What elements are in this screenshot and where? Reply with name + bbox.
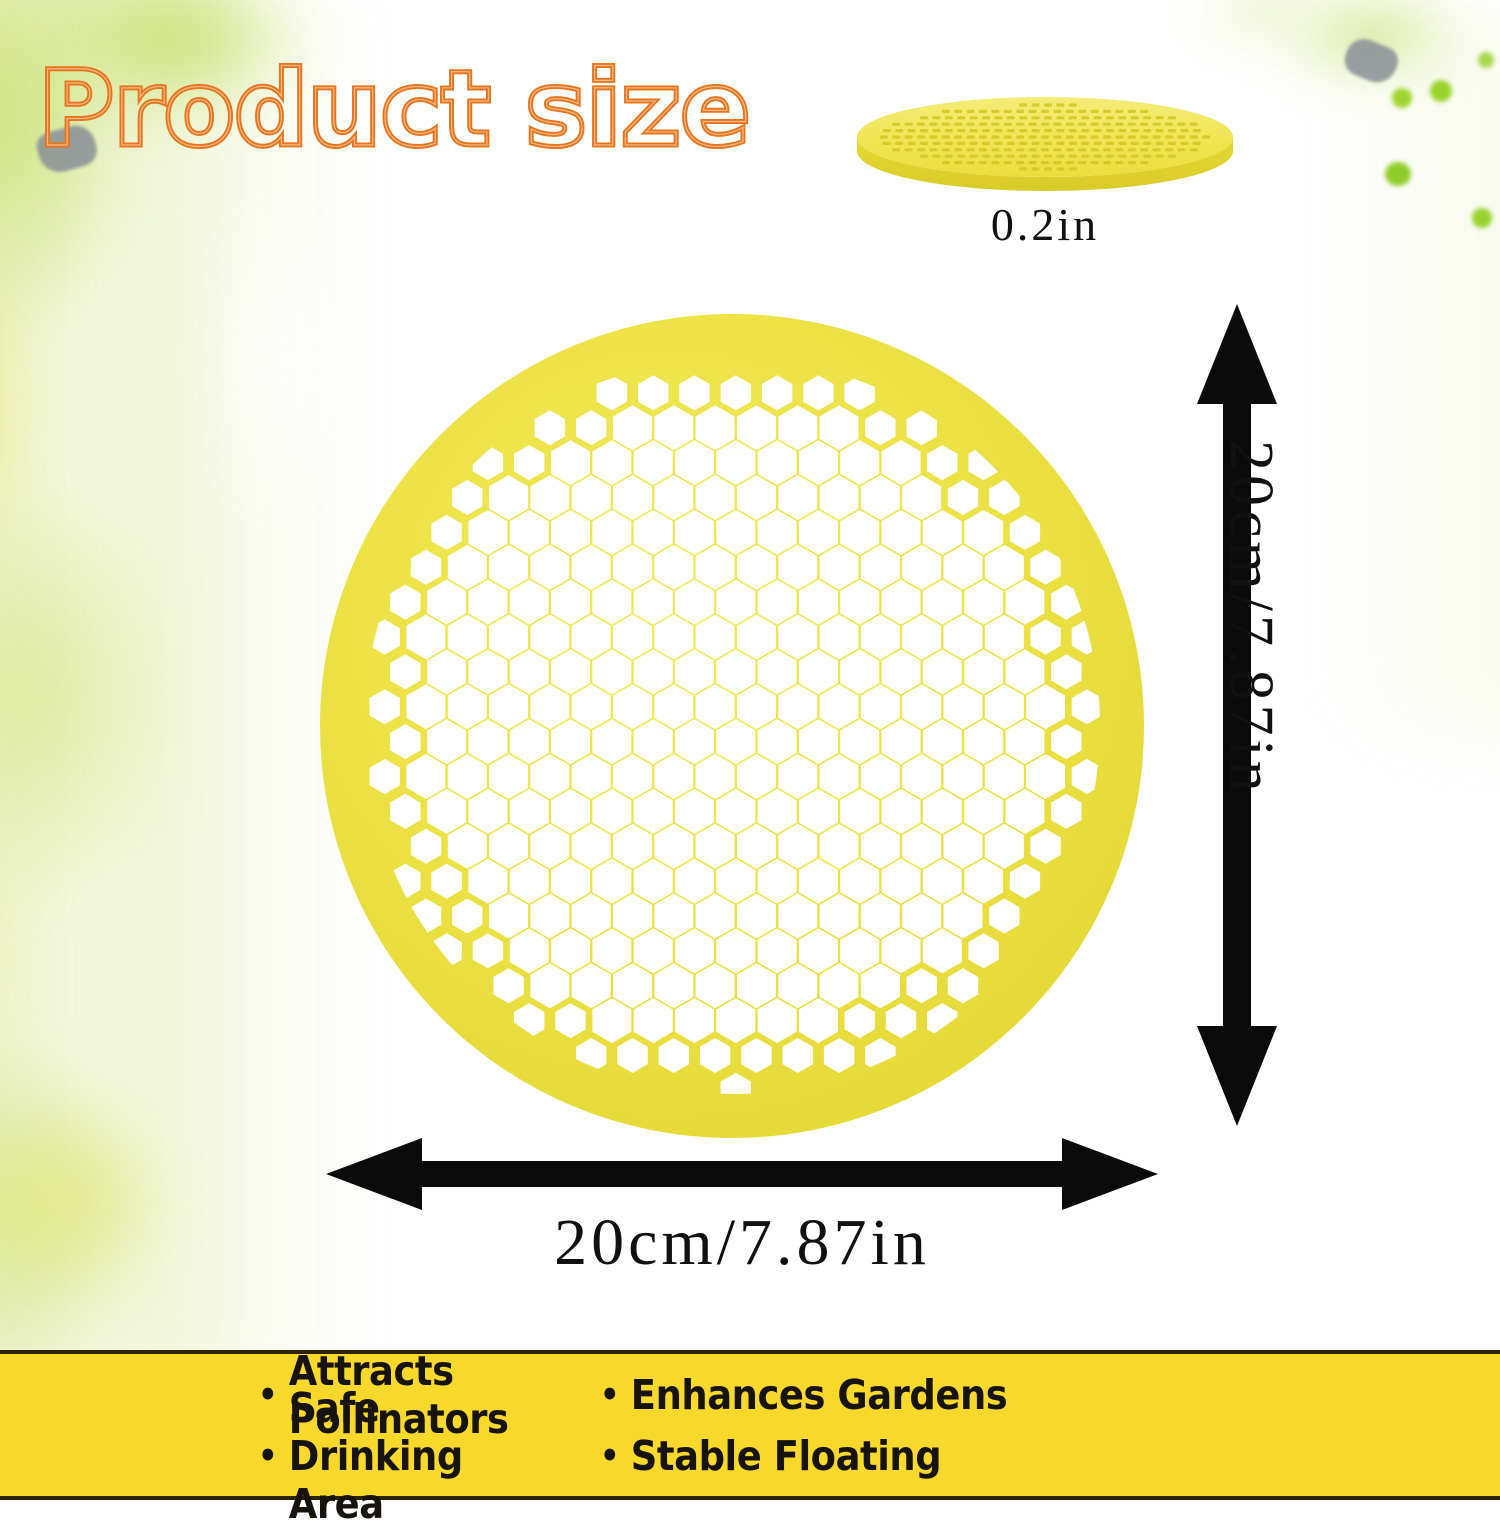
- feature-label: Enhances Gardens: [631, 1371, 1007, 1419]
- honeycomb-hole: [1066, 161, 1074, 164]
- honeycomb-hole: [945, 142, 953, 145]
- honeycomb-hole: [892, 123, 900, 126]
- honeycomb-hole: [1115, 110, 1123, 113]
- honeycomb-hole: [942, 135, 950, 138]
- honeycomb-hole: [1156, 155, 1164, 158]
- honeycomb-hole: [994, 155, 1002, 158]
- honeycomb-hole: [1004, 148, 1012, 151]
- bullet-icon: •: [600, 1378, 619, 1412]
- honeycomb-hole: [1007, 155, 1015, 158]
- honeycomb-hole: [932, 142, 940, 145]
- honeycomb-hole: [1190, 123, 1198, 126]
- honeycomb-hole: [1156, 142, 1164, 145]
- watercolor-splash-right: [1320, 30, 1500, 730]
- honeycomb-hole: [917, 135, 925, 138]
- honeycomb-hole: [1041, 148, 1049, 151]
- honeycomb-hole: [1032, 155, 1040, 158]
- honeycomb-hole: [1044, 103, 1052, 106]
- honeycomb-hole: [1007, 142, 1015, 145]
- honeycomb-hole: [1032, 142, 1040, 145]
- honeycomb-hole: [1044, 167, 1052, 170]
- honeycomb-hole: [1007, 116, 1015, 119]
- honeycomb-hole: [1103, 123, 1111, 126]
- honeycomb-hole: [1143, 142, 1151, 145]
- honeycomb-hole: [892, 148, 900, 151]
- honeycomb-hole: [1078, 110, 1086, 113]
- honeycomb-hole: [1118, 116, 1126, 119]
- honeycomb-hole: [1044, 155, 1052, 158]
- honeycomb-hole: [1078, 148, 1086, 151]
- honeycomb-hole: [994, 116, 1002, 119]
- honeycomb-hole: [1056, 129, 1064, 132]
- honeycomb-hole: [1103, 148, 1111, 151]
- honeycomb-hole: [1066, 148, 1074, 151]
- honeycomb-hole: [1032, 103, 1040, 106]
- honeycomb-hole: [929, 148, 937, 151]
- honeycomb-hole: [954, 148, 962, 151]
- honeycomb-hole: [1081, 129, 1089, 132]
- honeycomb-hole: [1066, 110, 1074, 113]
- honeycomb-hole: [1115, 161, 1123, 164]
- honeycomb-hole: [932, 129, 940, 132]
- honeycomb-hole: [1069, 155, 1077, 158]
- feature-item-stable-floating: • Stable Floating: [600, 1432, 1410, 1480]
- honeycomb-hole: [1168, 129, 1176, 132]
- honeycomb-hole: [1029, 123, 1037, 126]
- honeycomb-hole: [954, 123, 962, 126]
- honeycomb-hole: [994, 129, 1002, 132]
- honeycomb-hole: [991, 110, 999, 113]
- honeycomb-hole: [917, 123, 925, 126]
- honeycomb-hole: [1019, 116, 1027, 119]
- honeycomb-hole: [905, 148, 913, 151]
- honeycomb-hole: [1128, 123, 1136, 126]
- honeycomb-hole: [1180, 142, 1188, 145]
- honeycomb-hole: [991, 148, 999, 151]
- honeycomb-hole: [1016, 161, 1024, 164]
- honeycomb-hole: [991, 123, 999, 126]
- honeycomb-hole: [1041, 110, 1049, 113]
- honeycomb-hole: [970, 116, 978, 119]
- honeycomb-hole: [979, 161, 987, 164]
- honeycomb-hole: [1180, 129, 1188, 132]
- honeycomb-hole: [920, 129, 928, 132]
- honeycomb-hole: [1053, 123, 1061, 126]
- honeycomb-hole: [1069, 116, 1077, 119]
- honeycomb-hole: [1168, 116, 1176, 119]
- honeycomb-hole: [883, 129, 891, 132]
- honeycomb-hole: [1078, 135, 1086, 138]
- honeycomb-hole: [1019, 155, 1027, 158]
- honeycomb-hole: [1091, 135, 1099, 138]
- honeycomb-hole: [1056, 155, 1064, 158]
- honeycomb-hole: [1106, 155, 1114, 158]
- page-title: Product size: [38, 48, 750, 170]
- honeycomb-hole: [982, 155, 990, 158]
- honeycomb-hole: [1140, 135, 1148, 138]
- honeycomb-hole: [970, 129, 978, 132]
- honeycomb-hole: [1041, 161, 1049, 164]
- honeycomb-hole: [1032, 129, 1040, 132]
- honeycomb-hole: [1165, 135, 1173, 138]
- honeycomb-hole: [979, 148, 987, 151]
- honeycomb-hole: [1140, 148, 1148, 151]
- honeycomb-hole: [920, 155, 928, 158]
- honeycomb-hole: [945, 116, 953, 119]
- honeycomb-hole: [1019, 142, 1027, 145]
- product-thickness-view: [855, 95, 1235, 195]
- honeycomb-hole: [957, 142, 965, 145]
- feature-banner: • Attracts Pollinators • Enhances Garden…: [0, 1350, 1500, 1500]
- honeycomb-hole: [1115, 135, 1123, 138]
- honeycomb-hole: [1153, 148, 1161, 151]
- honeycomb-hole: [1044, 142, 1052, 145]
- honeycomb-hole: [1044, 129, 1052, 132]
- honeycomb-hole: [895, 129, 903, 132]
- honeycomb-hole: [1019, 103, 1027, 106]
- green-dot-icon: [1478, 52, 1494, 68]
- honeycomb-hole: [1202, 135, 1210, 138]
- honeycomb-hole: [917, 148, 925, 151]
- honeycomb-hole: [1066, 135, 1074, 138]
- honeycomb-hole: [1106, 142, 1114, 145]
- honeycomb-hole: [979, 123, 987, 126]
- honeycomb-hole: [1081, 142, 1089, 145]
- honeycomb-hole: [1128, 135, 1136, 138]
- honeycomb-hole: [1103, 110, 1111, 113]
- honeycomb-hole: [957, 155, 965, 158]
- honeycomb-hole: [1053, 148, 1061, 151]
- honeycomb-hole: [1094, 155, 1102, 158]
- honeycomb-hole: [1056, 167, 1064, 170]
- honeycomb-hole: [979, 135, 987, 138]
- honeycomb-hole: [1091, 123, 1099, 126]
- honeycomb-hole: [1016, 123, 1024, 126]
- honeycomb-hole: [1153, 123, 1161, 126]
- honeycomb-hole: [1007, 129, 1015, 132]
- feature-item-enhances-gardens: • Enhances Gardens: [600, 1371, 1410, 1419]
- honeycomb-hole: [1004, 123, 1012, 126]
- honeycomb-hole: [1103, 135, 1111, 138]
- honeycomb-hole: [954, 135, 962, 138]
- green-dot-icon: [1392, 88, 1412, 108]
- honeycomb-hole: [1193, 142, 1201, 145]
- bullet-icon: •: [600, 1439, 619, 1473]
- honeycomb-hole: [1153, 135, 1161, 138]
- honeycomb-hole: [1019, 167, 1027, 170]
- honeycomb-hole: [982, 116, 990, 119]
- honeycomb-hole: [1069, 167, 1077, 170]
- honeycomb-hole: [957, 116, 965, 119]
- honeycomb-hole: [994, 142, 1002, 145]
- honeycomb-hole: [991, 135, 999, 138]
- honeycomb-hole: [957, 129, 965, 132]
- honeycomb-hole: [942, 161, 950, 164]
- feature-item-safe-drinking-area: • Safe Drinking Area: [258, 1384, 530, 1528]
- honeycomb-hole: [1143, 129, 1151, 132]
- honeycomb-hole: [967, 148, 975, 151]
- honeycomb-hole: [1106, 116, 1114, 119]
- honeycomb-hole: [1094, 129, 1102, 132]
- honeycomb-hole: [1016, 110, 1024, 113]
- honeycomb-hole: [880, 135, 888, 138]
- honeycomb-hole: [1019, 129, 1027, 132]
- honeycomb-hole: [1032, 116, 1040, 119]
- honeycomb-hole: [991, 161, 999, 164]
- honeycomb-hole: [1156, 116, 1164, 119]
- honeycomb-hole: [1016, 148, 1024, 151]
- honeycomb-hole: [895, 142, 903, 145]
- honeycomb-hole: [1066, 123, 1074, 126]
- honeycomb-hole: [1069, 142, 1077, 145]
- honeycomb-hole: [1168, 155, 1176, 158]
- honeycomb-hole: [1143, 116, 1151, 119]
- honeycomb-hole: [982, 142, 990, 145]
- honeycomb-hole: [1053, 161, 1061, 164]
- honeycomb-hole: [982, 129, 990, 132]
- product-main-disc-image: [318, 312, 1146, 1140]
- product-small-disc-image: [855, 95, 1235, 191]
- honeycomb-hole: [979, 110, 987, 113]
- honeycomb-hole: [967, 161, 975, 164]
- honeycomb-hole: [1177, 148, 1185, 151]
- honeycomb-hole: [945, 155, 953, 158]
- honeycomb-hole: [1041, 123, 1049, 126]
- green-dot-icon: [1385, 162, 1411, 186]
- honeycomb-hole: [1143, 155, 1151, 158]
- feature-row: • Safe Drinking Area • Stable Floating: [0, 1425, 1500, 1486]
- honeycomb-hole: [1053, 110, 1061, 113]
- honeycomb-hole: [954, 110, 962, 113]
- height-dimension-label: 20cm/7.87in: [1215, 440, 1286, 796]
- honeycomb-hole: [1190, 135, 1198, 138]
- honeycomb-hole: [905, 135, 913, 138]
- thickness-label: 0.2in: [855, 198, 1235, 251]
- honeycomb-hole: [1032, 167, 1040, 170]
- feature-label: Safe Drinking Area: [289, 1384, 530, 1528]
- honeycomb-hole: [1128, 110, 1136, 113]
- honeycomb-hole: [967, 123, 975, 126]
- honeycomb-hole: [967, 135, 975, 138]
- honeycomb-hole: [1069, 103, 1077, 106]
- honeycomb-hole: [1131, 116, 1139, 119]
- honeycomb-hole: [929, 135, 937, 138]
- feature-label: Stable Floating: [631, 1432, 941, 1480]
- honeycomb-hole: [1193, 129, 1201, 132]
- green-dot-icon: [1472, 208, 1492, 228]
- honeycomb-hole: [1029, 135, 1037, 138]
- honeycomb-hole: [1165, 123, 1173, 126]
- honeycomb-hole: [1094, 116, 1102, 119]
- honeycomb-hole: [1128, 161, 1136, 164]
- honeycomb-hole: [892, 135, 900, 138]
- honeycomb-hole: [932, 116, 940, 119]
- honeycomb-hole: [942, 148, 950, 151]
- honeycomb-hole: [908, 129, 916, 132]
- horizontal-double-arrow-icon: [322, 1136, 1162, 1212]
- honeycomb-hole: [942, 123, 950, 126]
- honeycomb-hole: [1081, 116, 1089, 119]
- honeycomb-hole: [1177, 123, 1185, 126]
- bullet-icon: •: [258, 1439, 277, 1473]
- honeycomb-hole: [1016, 135, 1024, 138]
- width-dimension-label: 20cm/7.87in: [322, 1205, 1162, 1281]
- honeycomb-hole: [1156, 129, 1164, 132]
- honeycomb-hole: [1140, 161, 1148, 164]
- honeycomb-hole: [1053, 135, 1061, 138]
- honeycomb-hole: [1029, 161, 1037, 164]
- honeycomb-hole: [932, 155, 940, 158]
- honeycomb-hole: [1140, 123, 1148, 126]
- honeycomb-hole: [1168, 142, 1176, 145]
- honeycomb-hole: [1078, 161, 1086, 164]
- honeycomb-hole: [1118, 142, 1126, 145]
- honeycomb-hole: [908, 142, 916, 145]
- honeycomb-hole: [920, 116, 928, 119]
- honeycomb-hole: [970, 142, 978, 145]
- honeycomb-hole: [1128, 148, 1136, 151]
- honeycomb-hole: [1041, 135, 1049, 138]
- honeycomb-hole: [1044, 116, 1052, 119]
- honeycomb-hole: [1091, 148, 1099, 151]
- honeycomb-hole: [1115, 123, 1123, 126]
- honeycomb-hole: [1106, 129, 1114, 132]
- watercolor-splash-bottom-left: [0, 1050, 240, 1350]
- honeycomb-hole: [1103, 161, 1111, 164]
- honeycomb-hole: [1140, 110, 1148, 113]
- honeycomb-hole: [1190, 148, 1198, 151]
- honeycomb-hole: [883, 142, 891, 145]
- honeycomb-hole: [970, 155, 978, 158]
- honeycomb-hole: [1056, 142, 1064, 145]
- honeycomb-hole: [920, 142, 928, 145]
- honeycomb-hole: [1118, 129, 1126, 132]
- honeycomb-hole: [905, 123, 913, 126]
- honeycomb-hole: [1177, 135, 1185, 138]
- honeycomb-hole: [954, 161, 962, 164]
- green-dot-icon: [1430, 80, 1452, 102]
- honeycomb-hole: [1118, 155, 1126, 158]
- honeycomb-hole: [942, 110, 950, 113]
- honeycomb-hole: [1131, 129, 1139, 132]
- honeycomb-hole: [1081, 155, 1089, 158]
- honeycomb-hole: [1004, 161, 1012, 164]
- honeycomb-hole: [1056, 116, 1064, 119]
- honeycomb-hole: [1029, 148, 1037, 151]
- honeycomb-hole: [1115, 148, 1123, 151]
- honeycomb-hole: [1094, 142, 1102, 145]
- honeycomb-hole: [1056, 103, 1064, 106]
- honeycomb-hole: [967, 110, 975, 113]
- honeycomb-hole: [1165, 148, 1173, 151]
- honeycomb-hole: [1131, 142, 1139, 145]
- honeycomb-hole: [929, 123, 937, 126]
- honeycomb-hole: [1004, 110, 1012, 113]
- honeycomb-hole: [1091, 161, 1099, 164]
- honeycomb-hole: [1091, 110, 1099, 113]
- honeycomb-hole: [945, 129, 953, 132]
- honeycomb-hole: [1078, 123, 1086, 126]
- honeycomb-hole: [1004, 135, 1012, 138]
- honeycomb-hole: [1069, 129, 1077, 132]
- honeycomb-hole: [1131, 155, 1139, 158]
- honeycomb-hole: [1029, 110, 1037, 113]
